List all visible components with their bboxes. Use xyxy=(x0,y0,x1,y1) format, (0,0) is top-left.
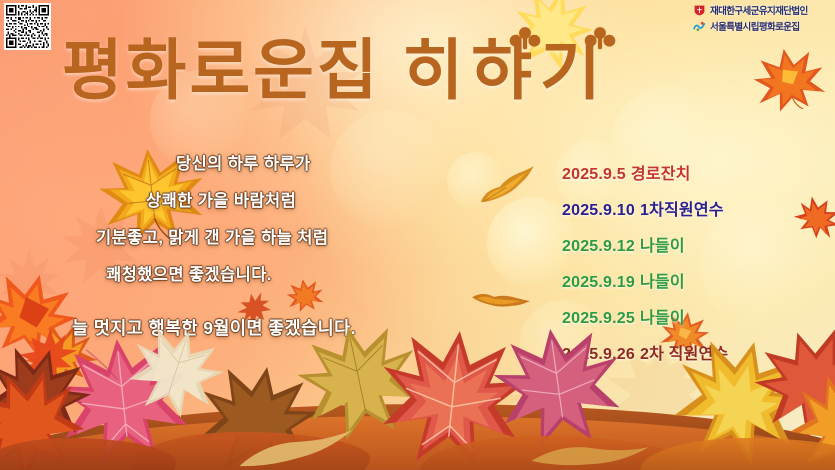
poem-line: 상쾌한 가을 바람처럼 xyxy=(72,187,472,211)
schedule-item: 2025.9.5경로잔치 xyxy=(562,160,822,184)
logo-salvation-army: 재대한구세군유지재단법인 xyxy=(693,3,829,17)
leaf-pile-foreground xyxy=(640,438,835,470)
page-title-part2: 히햐기 xyxy=(381,33,609,107)
schedule-item: 2025.9.12나들이 xyxy=(562,232,822,256)
leaf-sliver-icon xyxy=(519,434,661,470)
schedule-item-date: 2025.9.12 xyxy=(562,238,635,255)
leaf-decoration-twisted xyxy=(472,162,544,216)
page-title-part1: 평화로운집 xyxy=(62,33,381,107)
salvation-army-shield-icon xyxy=(693,4,706,17)
schedule-item-event: 경로잔치 xyxy=(631,166,691,183)
leaf-watermark-icon xyxy=(430,355,530,455)
schedule-item-date: 2025.9.10 xyxy=(562,202,635,219)
qr-code[interactable] xyxy=(4,3,51,50)
maple-leaf-brown xyxy=(187,354,328,470)
schedule-item: 2025.9.19나들이 xyxy=(562,268,822,292)
page-title: 평화로운집히햐기 xyxy=(62,30,762,110)
qr-code-icon xyxy=(6,5,49,48)
schedule-item-event: 나들이 xyxy=(640,238,685,255)
poem-line: 쾌청했으면 좋겠습니다. xyxy=(72,261,472,285)
poster-canvas: 재대한구세군유지재단법인 서울특별시립평화로운집 평화로운집히햐기 xyxy=(0,0,835,470)
poem-line: 당신의 하루 하루가 xyxy=(72,150,472,174)
schedule-item: 2025.9.25나들이 xyxy=(562,304,822,328)
schedule-item: 2025.9.262차 직원연수 xyxy=(562,340,822,364)
schedule-item-event: 나들이 xyxy=(640,310,685,327)
schedule-item-date: 2025.9.25 xyxy=(562,310,635,327)
poem-line: 늘 멋지고 행복한 9월이면 좋겠습니다. xyxy=(72,315,472,340)
poem-text: 당신의 하루 하루가 상쾌한 가을 바람처럼 기분좋고, 맑게 갠 가을 하늘 … xyxy=(72,150,472,353)
leaf-pile-base xyxy=(0,404,835,470)
schedule-item-event: 나들이 xyxy=(640,274,685,291)
schedule-item-date: 2025.9.26 xyxy=(562,346,635,363)
leaf-pile-foreground xyxy=(420,436,680,470)
schedule-list: 2025.9.5경로잔치 2025.9.101차직원연수 2025.9.12나들… xyxy=(562,160,822,376)
poem-line: 기분좋고, 맑게 갠 가을 하늘 처럼 xyxy=(72,224,472,248)
leaf-decoration-twisted xyxy=(466,276,533,329)
schedule-item-date: 2025.9.19 xyxy=(562,274,635,291)
leaf-sliver-icon xyxy=(235,428,357,470)
leaf-pile-mid xyxy=(0,416,835,470)
schedule-item-event: 1차직원연수 xyxy=(640,202,724,219)
schedule-item: 2025.9.101차직원연수 xyxy=(562,196,822,220)
schedule-item-date: 2025.9.5 xyxy=(562,166,626,183)
leaf-pile-foreground xyxy=(130,432,370,470)
logo-salvation-army-label: 재대한구세군유지재단법인 xyxy=(710,3,808,17)
leaf-pile-foreground xyxy=(0,438,176,470)
schedule-item-event: 2차 직원연수 xyxy=(640,346,728,363)
